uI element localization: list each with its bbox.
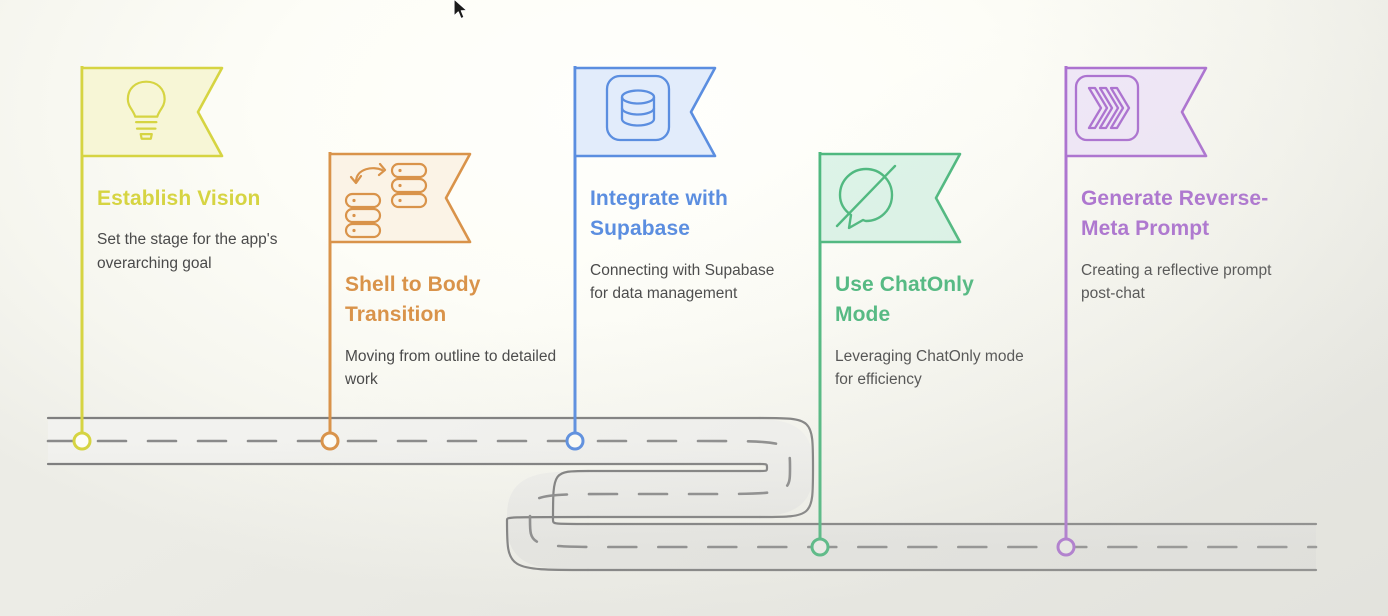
marker-milestone-4[interactable] — [812, 539, 828, 555]
marker-milestone-5[interactable] — [1058, 539, 1074, 555]
marker-milestone-2[interactable] — [322, 433, 338, 449]
marker-milestone-1[interactable] — [74, 433, 90, 449]
roadmap-canvas: Establish Vision Set the stage for the a… — [0, 0, 1388, 616]
marker-milestone-3[interactable] — [567, 433, 583, 449]
road-markers — [0, 0, 1388, 616]
